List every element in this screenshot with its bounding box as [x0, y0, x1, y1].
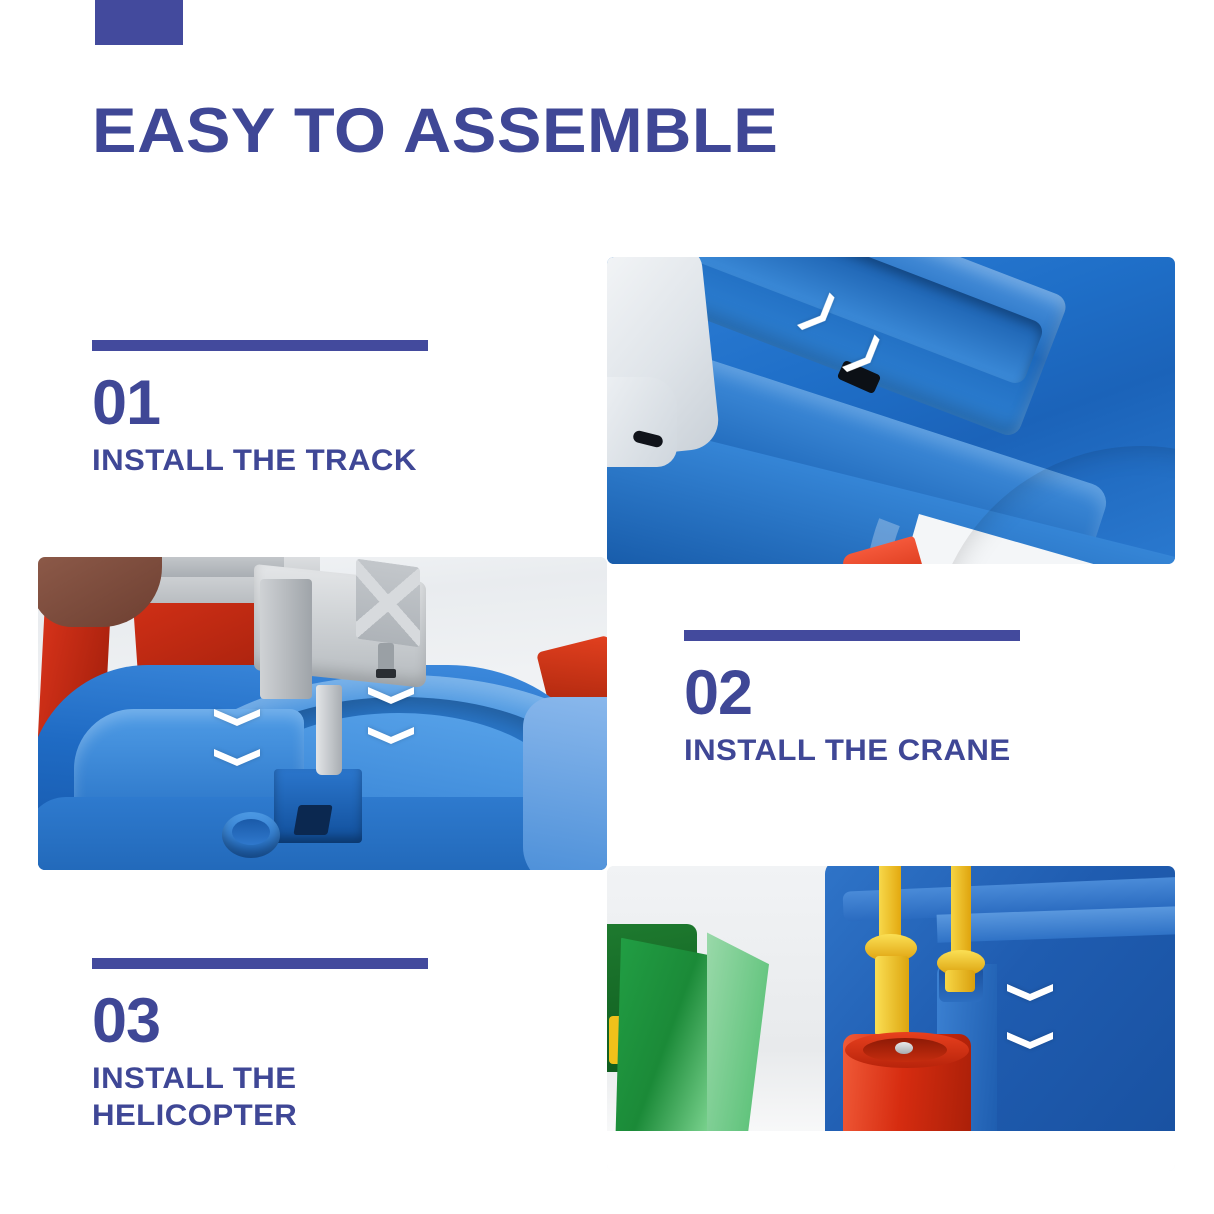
peg-hole [232, 819, 270, 845]
white-part-secondary [607, 377, 677, 467]
step-block-03: 03 INSTALL THE HELICOPTER [92, 958, 428, 1134]
step-block-02: 02 INSTALL THE CRANE [684, 630, 1020, 770]
yellow-rod-front-barrel [875, 956, 909, 1040]
accent-square [95, 0, 183, 45]
step-label-03-line-2: HELICOPTER [92, 1098, 441, 1135]
yellow-rod-rear [951, 866, 971, 962]
step-number-03: 03 [92, 993, 428, 1051]
track-assembly-photo [607, 257, 1175, 564]
step-rule-03 [92, 958, 428, 969]
crane-notch-slot [376, 669, 396, 678]
page-title: EASY TO ASSEMBLE [92, 100, 778, 163]
step-block-01: 01 INSTALL THE TRACK [92, 340, 428, 480]
white-foreground [607, 1131, 1175, 1171]
crane-shaft [316, 685, 342, 775]
step-label-01: INSTALL THE TRACK [92, 443, 441, 480]
panel-1-scene [607, 257, 1175, 564]
crane-column [260, 579, 312, 699]
step-label-02: INSTALL THE CRANE [684, 733, 1033, 770]
step-label-03-line-1: INSTALL THE [92, 1061, 441, 1098]
helicopter-assembly-photo [607, 866, 1175, 1171]
step-label-03: INSTALL THE HELICOPTER [92, 1061, 441, 1134]
panel-3-scene [607, 866, 1175, 1171]
screw-head [895, 1042, 913, 1054]
step-rule-02 [684, 630, 1020, 641]
step-number-02: 02 [684, 665, 1020, 723]
yellow-rod-rear-stub [945, 970, 975, 992]
crane-assembly-photo [38, 557, 607, 870]
crane-lattice [356, 559, 420, 648]
step-number-01: 01 [92, 375, 428, 433]
panel-2-scene [38, 557, 607, 870]
crane-socket-hole [293, 805, 332, 835]
blue-right-wall [523, 697, 607, 870]
step-rule-01 [92, 340, 428, 351]
